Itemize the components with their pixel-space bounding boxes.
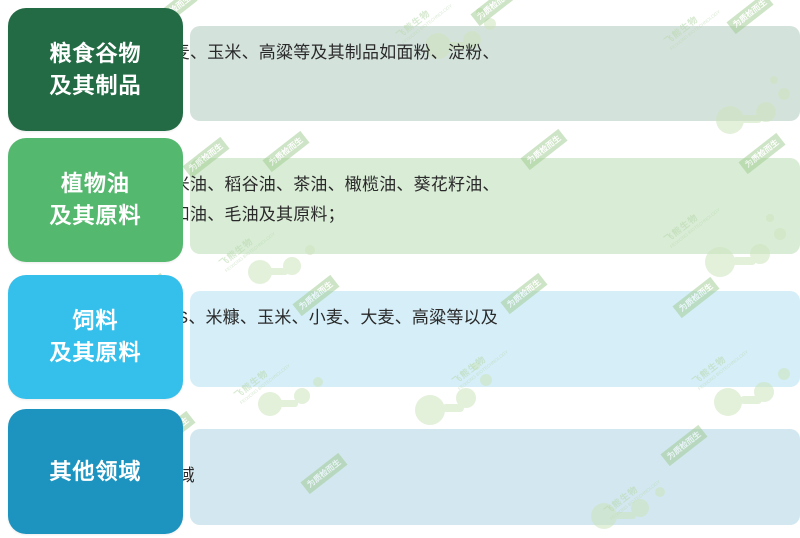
label-line: 植物油 — [49, 168, 141, 200]
label-line: 及其原料 — [49, 337, 141, 369]
category-label-vegetable-oil[interactable]: 植物油 及其原料 — [8, 138, 183, 262]
label-line: 饲料 — [49, 305, 141, 337]
category-label-other[interactable]: 其他领域 — [8, 409, 183, 534]
category-row-grain: 包括大米、小麦、大麦、玉米、高粱等及其制品如面粉、淀粉、 酱油、醋、豆瓣酱等； … — [0, 0, 800, 134]
label-line: 及其原料 — [49, 200, 141, 232]
category-row-feed: 豆粕、花生粕、DDGS、米糠、玉米、小麦、大麦、高粱等以及 饲料加工成品； 饲料… — [0, 269, 800, 405]
category-row-other: 坚果、中药等 其他领域 其他领域 — [0, 405, 800, 538]
infographic-board: 包括大米、小麦、大麦、玉米、高粱等及其制品如面粉、淀粉、 酱油、醋、豆瓣酱等； … — [0, 0, 800, 538]
category-label-grain[interactable]: 粮食谷物 及其制品 — [8, 8, 183, 131]
category-label-feed[interactable]: 饲料 及其原料 — [8, 275, 183, 399]
category-row-vegetable-oil: 大豆油、花生油、玉米油、稻谷油、茶油、橄榄油、葵花籽油、 色拉油、菜籽油、调和油… — [0, 134, 800, 269]
label-line: 粮食谷物 — [49, 38, 141, 70]
label-line: 及其制品 — [49, 70, 141, 102]
label-line: 其他领域 — [49, 456, 141, 488]
